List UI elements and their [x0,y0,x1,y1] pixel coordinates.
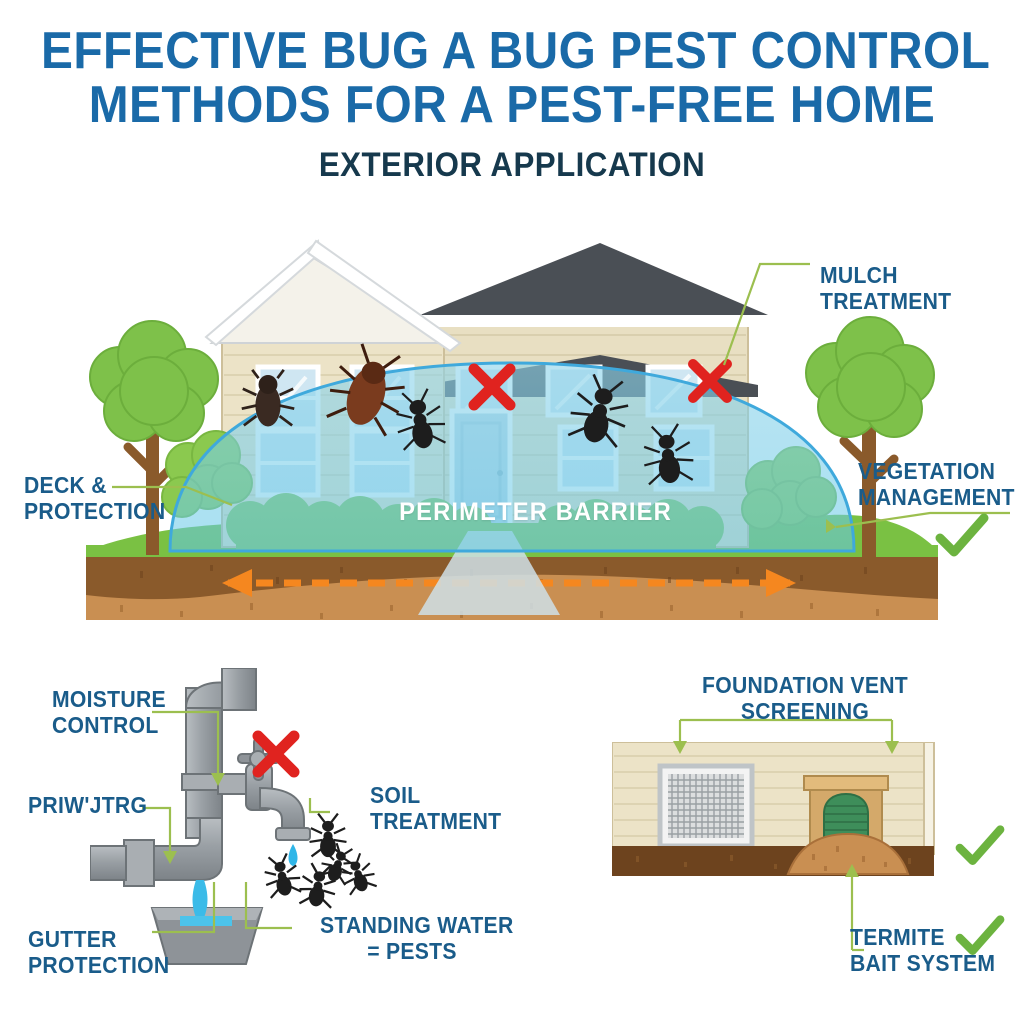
page-title-line-2: METHODS FOR A PEST-FREE HOME [41,78,983,132]
label-standing-water: STANDING WATER = PESTS [320,912,504,964]
label-gutter-protection: GUTTER PROTECTION [28,926,169,978]
page-title-line-1: EFFECTIVE BUG A BUG PEST CONTROL [41,24,983,78]
label-mulch-treatment: MULCH TREATMENT [820,262,951,314]
label-perimeter-barrier: PERIMETER BARRIER [399,498,672,527]
label-deck-protection: DECK & PROTECTION [24,472,165,524]
infographic-canvas: EFFECTIVE BUG A BUG PEST CONTROL METHODS… [0,0,1024,1024]
header-block: EFFECTIVE BUG A BUG PEST CONTROL METHODS… [0,24,1024,185]
label-piping-garbled: PRIW'JTRG [28,792,147,818]
label-vegetation-management: VEGETATION MANAGEMENT [858,458,1015,510]
label-soil-treatment: SOIL TREATMENT [370,782,501,834]
check-termite-icon [954,914,1006,960]
page-subtitle: EXTERIOR APPLICATION [41,146,983,185]
label-moisture-control: MOISTURE CONTROL [52,686,166,738]
label-foundation-vent-screening: FOUNDATION VENT SCREENING [672,672,939,724]
check-vent-icon [954,824,1006,870]
check-vegetation-icon [934,512,990,562]
